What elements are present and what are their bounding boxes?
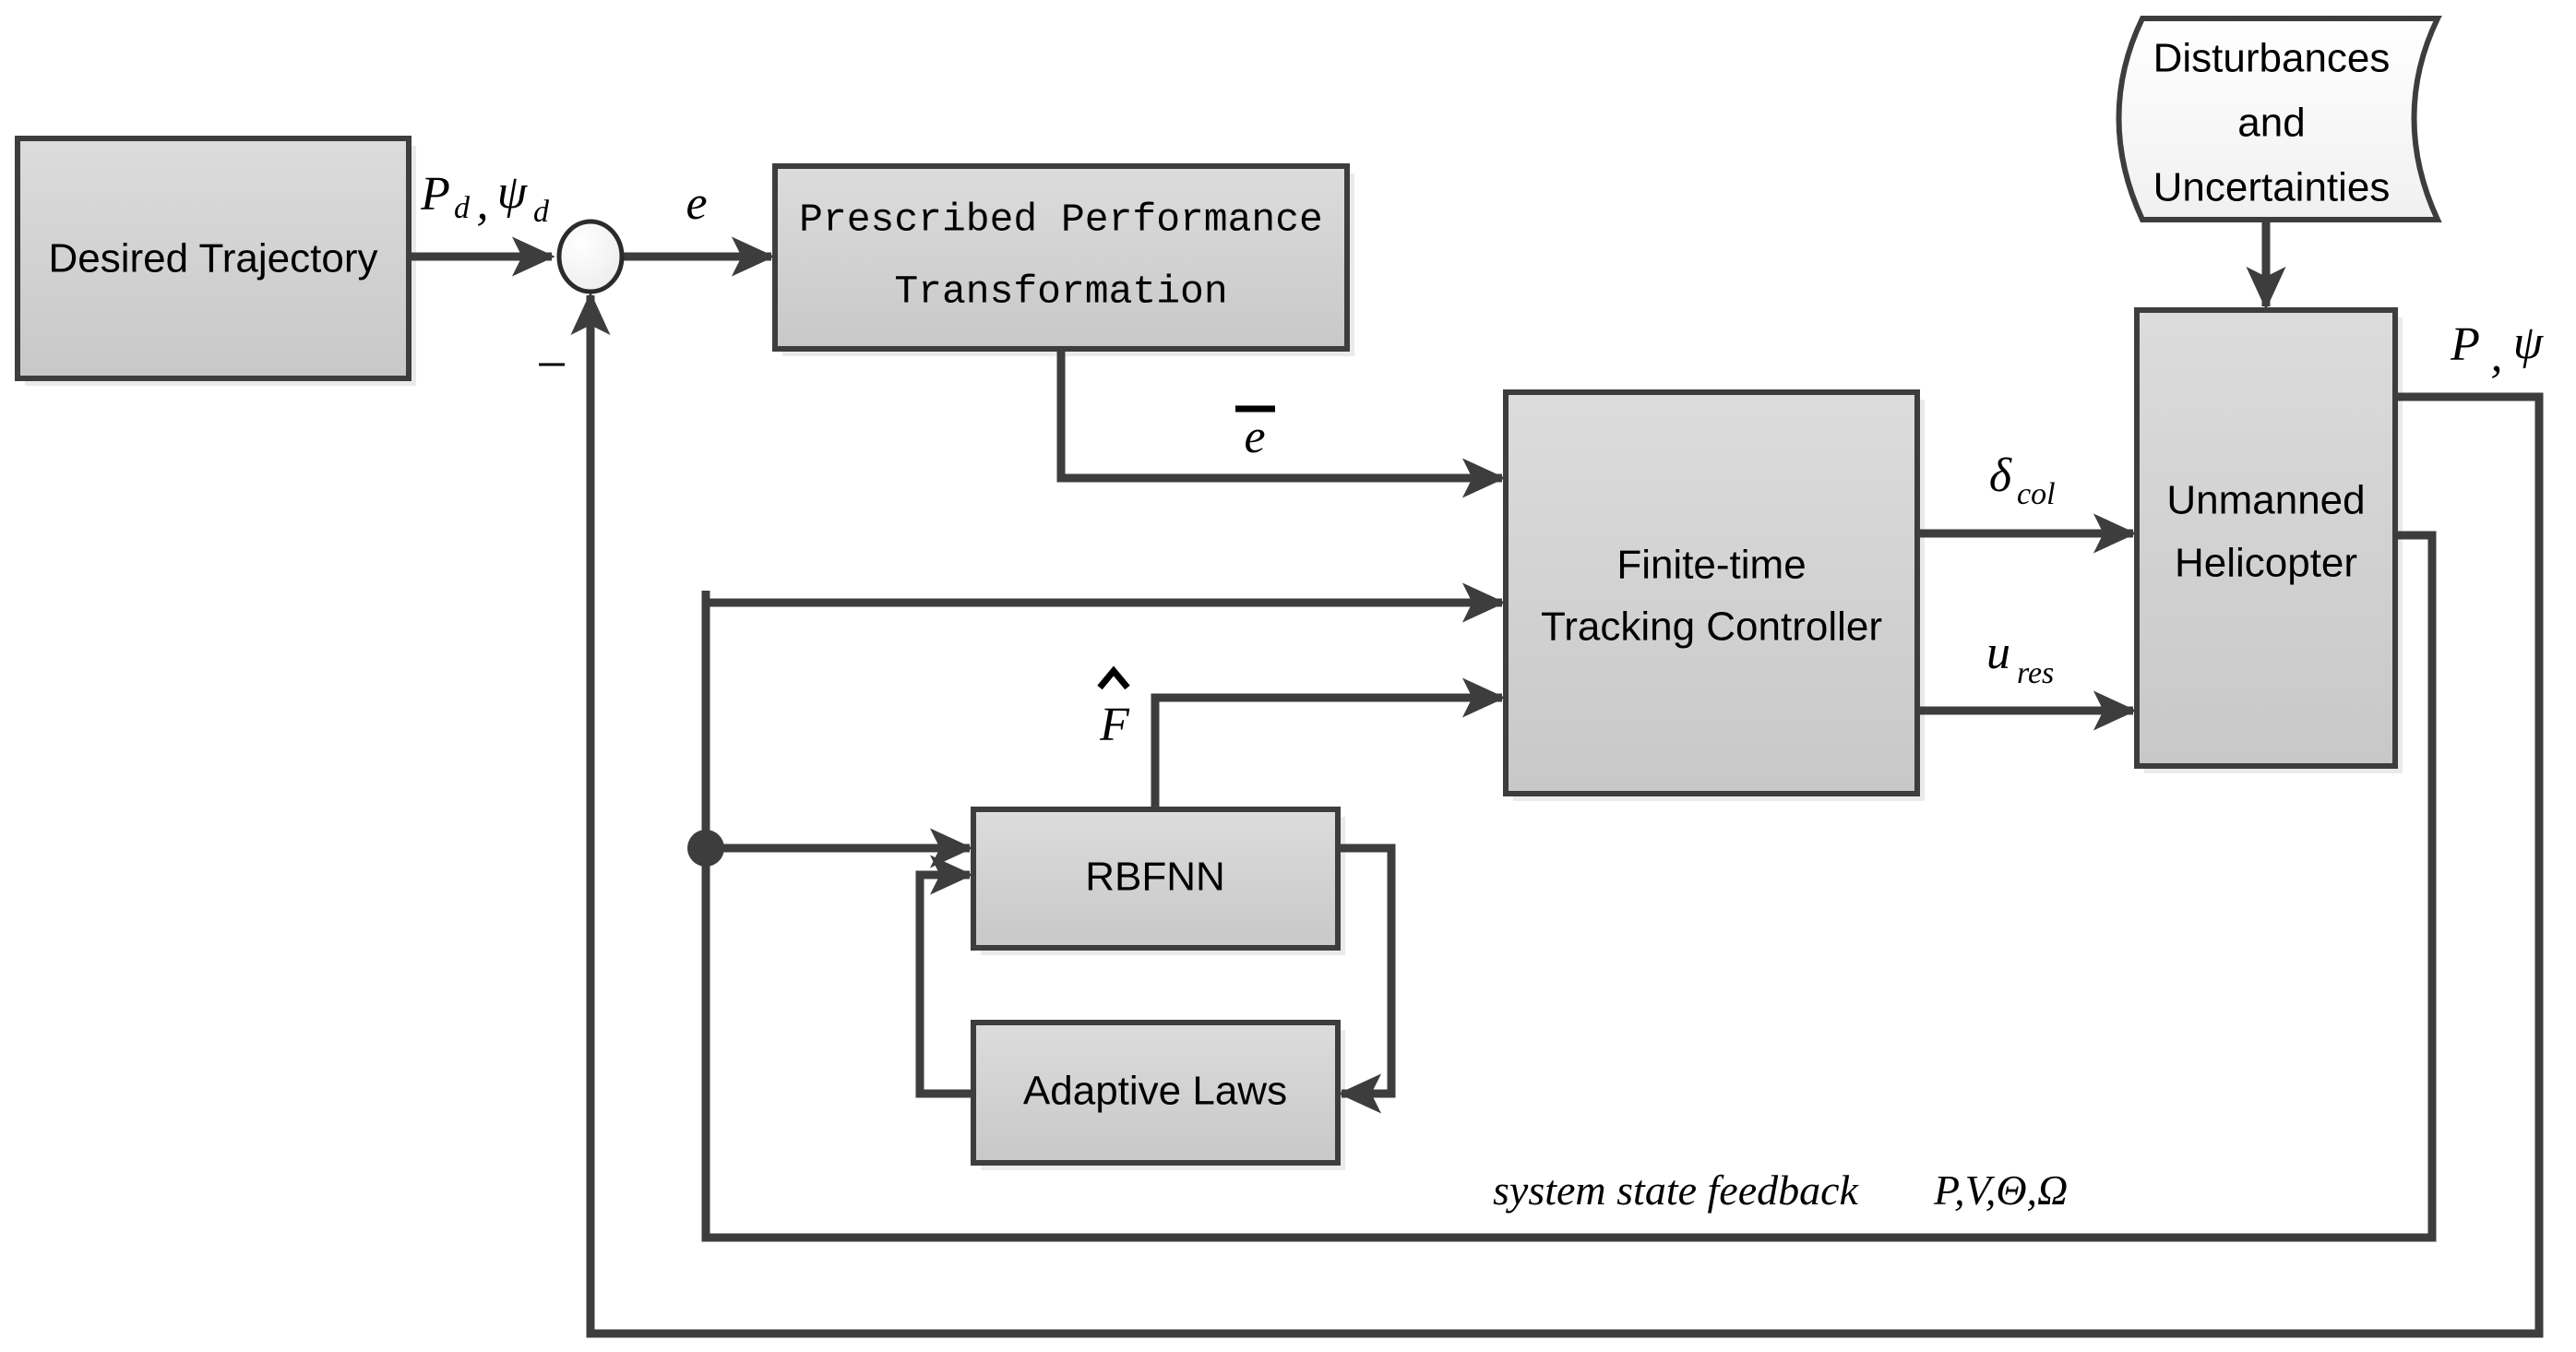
adaptive-laws-label: Adaptive Laws (1023, 1069, 1287, 1114)
helicopter-label-line1: Unmanned (2166, 478, 2365, 523)
disturbances-label-line3: Uncertainties (2153, 165, 2391, 210)
svg-text:d: d (533, 195, 550, 229)
signal-label-delta-col: δ col (1989, 449, 2056, 511)
disturbances-label-line2: and (2237, 101, 2305, 146)
desired-trajectory-label: Desired Trajectory (48, 236, 377, 281)
helicopter-label-line2: Helicopter (2175, 541, 2357, 586)
signal-label-p-psi: P , ψ (2450, 317, 2545, 382)
pd-sub: d (454, 191, 471, 225)
pd-comma: , (477, 177, 489, 230)
block-disturbances-and-uncertainties[interactable]: Disturbances and Uncertainties (2119, 18, 2439, 220)
signal-label-e-bar: e (1235, 409, 1275, 463)
signal-label-u-res: u res (1986, 627, 2054, 690)
connector-rbfnn-to-adaptive (1338, 848, 1391, 1094)
block-finite-time-tracking-controller[interactable]: Finite-time Tracking Controller (1506, 392, 1917, 794)
p-base: P (2450, 318, 2480, 371)
svg-text:,: , (477, 177, 489, 230)
psi-base: ψ (2513, 317, 2545, 369)
summing-junction[interactable] (559, 221, 622, 292)
p-comma: , (2491, 329, 2503, 382)
e-bar-base: e (1244, 411, 1265, 463)
block-unmanned-helicopter[interactable]: Unmanned Helicopter (2137, 310, 2395, 766)
block-rbfnn[interactable]: RBFNN (973, 809, 1338, 948)
delta-base: δ (1989, 449, 2012, 502)
block-adaptive-laws[interactable]: Adaptive Laws (973, 1023, 1338, 1163)
connector-adaptive-to-rbfnn (920, 875, 973, 1094)
pd-base: P (420, 168, 450, 221)
ures-base: u (1986, 627, 2010, 679)
signal-label-f-hat: F (1099, 671, 1130, 751)
controller-label-line2: Tracking Controller (1541, 604, 1882, 650)
signal-label-pd-psid: P d , ψ d (420, 166, 550, 230)
delta-sub: col (2017, 477, 2056, 511)
feedback-note-symbols: P,V,Θ,Ω (1933, 1167, 2068, 1214)
ppt-label-line1: Prescribed Performance (799, 197, 1323, 242)
signal-label-error-e: e (686, 177, 707, 230)
block-prescribed-performance-transformation[interactable]: Prescribed Performance Transformation (775, 166, 1347, 349)
connector-rbfnn-to-controller (1155, 698, 1502, 809)
system-state-feedback-note: system state feedback P,V,Θ,Ω (1493, 1167, 2068, 1214)
feedback-note-text: system state feedback (1493, 1167, 1860, 1214)
psid-base: ψ (497, 166, 529, 219)
svg-text:P: P (420, 168, 450, 221)
rbfnn-label: RBFNN (1085, 855, 1225, 900)
f-hat-accent (1100, 671, 1127, 688)
ures-sub: res (2017, 656, 2054, 690)
psid-sub: d (533, 195, 550, 229)
connector-ppt-to-controller (1061, 349, 1502, 478)
svg-text:ψ: ψ (497, 166, 529, 219)
summing-junction-minus-sign: − (536, 334, 567, 395)
disturbances-label-line1: Disturbances (2153, 36, 2391, 81)
block-diagram-canvas: Desired Trajectory Prescribed Performanc… (0, 0, 2576, 1352)
f-hat-base: F (1099, 699, 1130, 751)
block-desired-trajectory[interactable]: Desired Trajectory (18, 138, 409, 378)
ppt-label-line2: Transformation (894, 269, 1227, 314)
svg-text:d: d (454, 191, 471, 225)
controller-label-line1: Finite-time (1616, 543, 1806, 588)
feedback-junction-dot (687, 830, 724, 867)
diagram-svg: Desired Trajectory Prescribed Performanc… (0, 0, 2576, 1352)
